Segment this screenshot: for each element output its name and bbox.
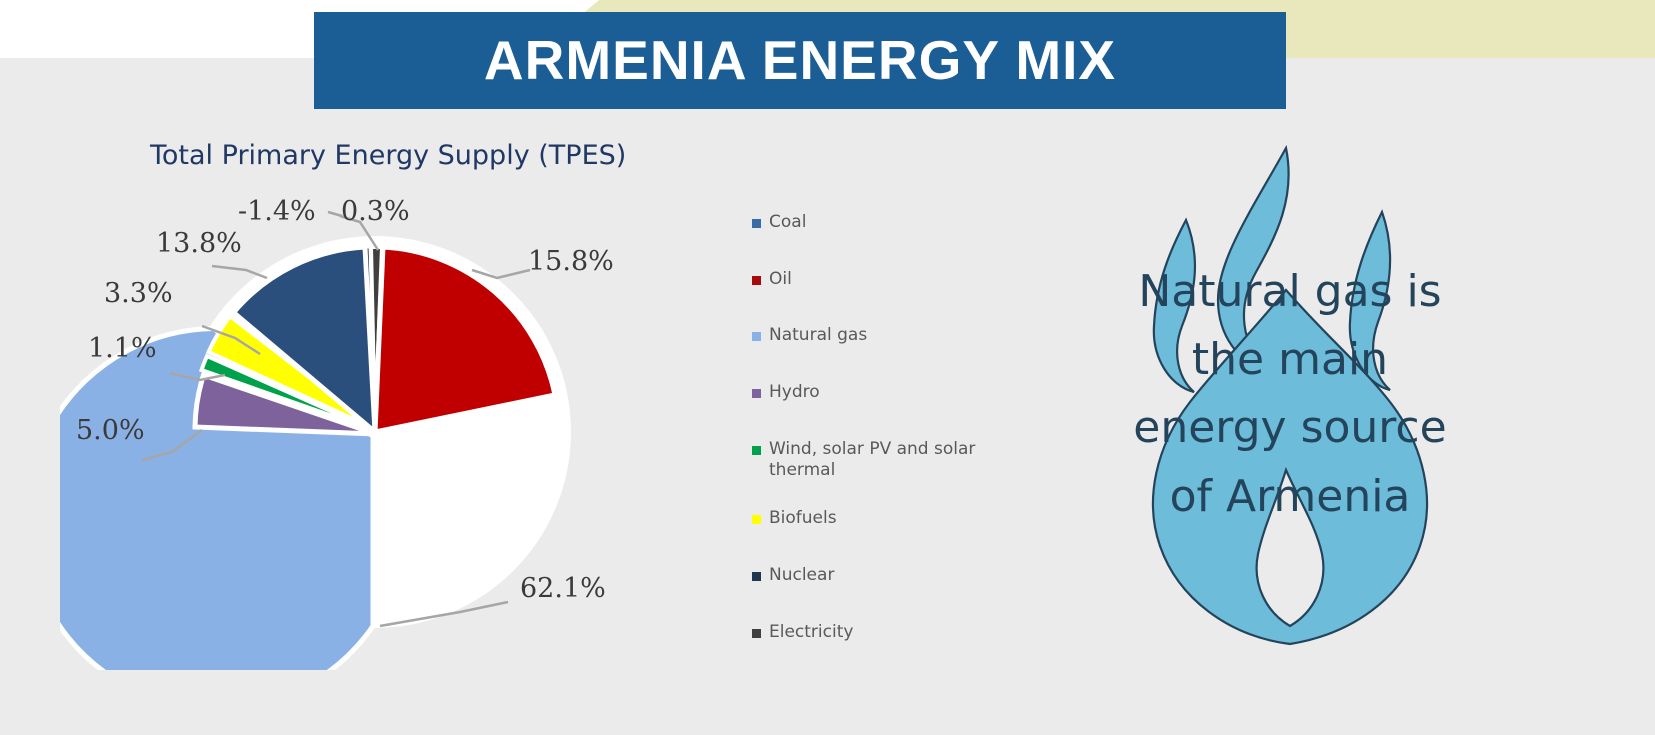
legend-swatch-natural-gas: [752, 332, 761, 341]
pie-label-electricity: 0.3%: [341, 196, 410, 227]
legend-label-nuclear: Nuclear: [769, 565, 834, 586]
chart-legend: Coal Oil Natural gas Hydro Wind, solar P…: [752, 212, 1032, 679]
legend-label-oil: Oil: [769, 269, 792, 290]
legend-label-biofuels: Biofuels: [769, 508, 837, 529]
legend-label-natural-gas: Natural gas: [769, 325, 867, 346]
flame-icon: [1090, 140, 1490, 660]
legend-label-coal: Coal: [769, 212, 806, 233]
legend-item-electricity[interactable]: Electricity: [752, 622, 1032, 643]
legend-item-coal[interactable]: Coal: [752, 212, 1032, 233]
pie-label-hydro: 5.0%: [76, 415, 145, 446]
pie-label-natural-gas: 62.1%: [520, 573, 606, 604]
legend-swatch-coal: [752, 219, 761, 228]
page-title: ARMENIA ENERGY MIX: [484, 33, 1116, 88]
legend-item-biofuels[interactable]: Biofuels: [752, 508, 1032, 529]
legend-item-nuclear[interactable]: Nuclear: [752, 565, 1032, 586]
legend-swatch-biofuels: [752, 515, 761, 524]
legend-swatch-oil: [752, 276, 761, 285]
title-banner: ARMENIA ENERGY MIX: [314, 12, 1286, 109]
pie-label-biofuels: 3.3%: [104, 278, 173, 309]
pie-label-coal: 13.8%: [156, 228, 242, 259]
legend-item-wind-solar[interactable]: Wind, solar PV and solar thermal: [752, 439, 1032, 480]
pie-label-wind-solar: 1.1%: [88, 333, 157, 364]
slide-canvas: ARMENIA ENERGY MIX Total Primary Energy …: [0, 0, 1655, 735]
flame-callout: Natural gas is the main energy source of…: [1090, 140, 1490, 660]
legend-label-wind-solar: Wind, solar PV and solar thermal: [769, 439, 1032, 480]
legend-item-oil[interactable]: Oil: [752, 269, 1032, 290]
legend-swatch-hydro: [752, 389, 761, 398]
legend-swatch-nuclear: [752, 572, 761, 581]
legend-item-natural-gas[interactable]: Natural gas: [752, 325, 1032, 346]
legend-swatch-wind-solar: [752, 446, 761, 455]
pie-chart: Total Primary Energy Supply (TPES): [60, 130, 720, 670]
pie-label-nuclear: -1.4%: [238, 196, 316, 227]
pie-label-oil: 15.8%: [528, 246, 614, 277]
legend-label-electricity: Electricity: [769, 622, 853, 643]
legend-label-hydro: Hydro: [769, 382, 820, 403]
legend-item-hydro[interactable]: Hydro: [752, 382, 1032, 403]
legend-swatch-electricity: [752, 629, 761, 638]
